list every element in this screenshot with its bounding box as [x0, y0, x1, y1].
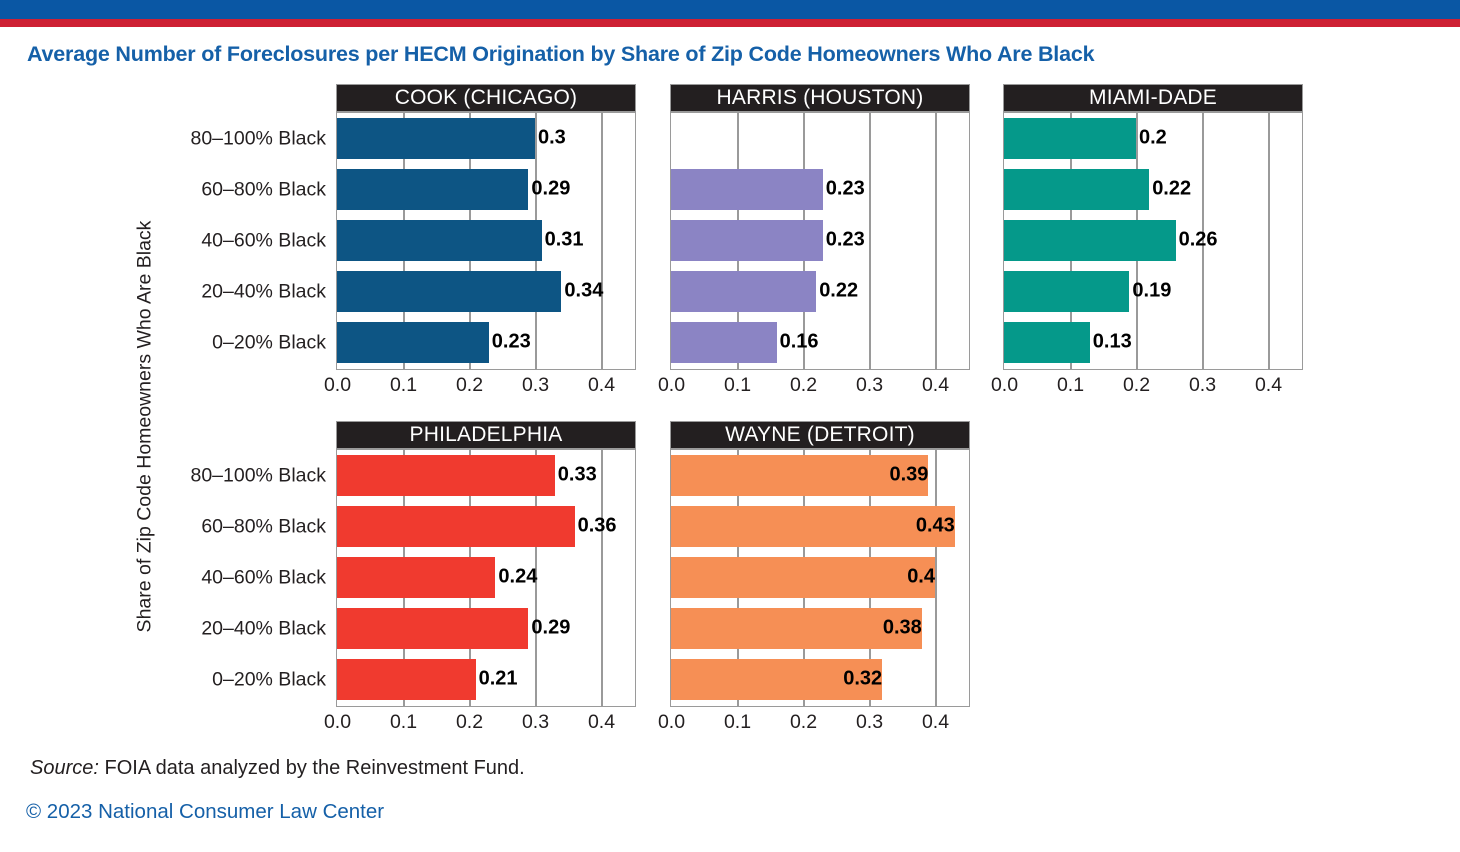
bar-value-label-miami-dade-4: 0.13 [1090, 331, 1132, 354]
bar-row-philadelphia-1: 0.36 [337, 506, 634, 547]
bar-philadelphia-1 [337, 506, 575, 547]
bar-row-harris-3: 0.22 [671, 271, 968, 312]
bar-value-label-cook-4: 0.23 [489, 331, 531, 354]
bar-miami-dade-0 [1004, 118, 1136, 159]
x-tick-miami-dade-0.0: 0.0 [991, 374, 1018, 397]
bar-cook-4 [337, 322, 489, 363]
bar-philadelphia-3 [337, 608, 528, 649]
plot-area-miami-dade: 0.20.220.260.190.13 [1003, 112, 1303, 370]
x-tick-philadelphia-0.2: 0.2 [456, 711, 483, 734]
bar-value-label-wayne-3: 0.38 [671, 617, 928, 640]
bar-cook-2 [337, 220, 542, 261]
panel-title-cook: COOK (CHICAGO) [336, 84, 636, 112]
bar-value-label-wayne-2: 0.4 [671, 566, 941, 589]
bar-harris-1 [671, 169, 823, 210]
copyright-note: © 2023 National Consumer Law Center [26, 800, 384, 824]
source-note: Source: FOIA data analyzed by the Reinve… [30, 757, 525, 780]
bar-value-label-harris-3: 0.22 [816, 280, 858, 303]
x-tick-miami-dade-0.1: 0.1 [1057, 374, 1084, 397]
banner-blue-stripe [0, 0, 1460, 19]
x-tick-wayne-0.3: 0.3 [856, 711, 883, 734]
category-label-philadelphia-4: 0–20% Black [212, 669, 326, 692]
bar-row-miami-dade-2: 0.26 [1004, 220, 1301, 261]
x-tick-harris-0.3: 0.3 [856, 374, 883, 397]
x-tick-harris-0.1: 0.1 [724, 374, 751, 397]
x-tick-philadelphia-0.1: 0.1 [390, 711, 417, 734]
bar-philadelphia-2 [337, 557, 495, 598]
plot-area-wayne: 0.390.430.40.380.32 [670, 449, 970, 707]
bar-value-label-miami-dade-1: 0.22 [1149, 178, 1191, 201]
bar-row-miami-dade-4: 0.13 [1004, 322, 1301, 363]
x-tick-harris-0.4: 0.4 [922, 374, 949, 397]
bar-value-label-cook-1: 0.29 [528, 178, 570, 201]
x-tick-cook-0.0: 0.0 [324, 374, 351, 397]
category-label-philadelphia-0: 80–100% Black [190, 465, 326, 488]
bar-miami-dade-2 [1004, 220, 1176, 261]
bar-philadelphia-0 [337, 455, 555, 496]
bar-row-miami-dade-3: 0.19 [1004, 271, 1301, 312]
bar-miami-dade-1 [1004, 169, 1149, 210]
x-tick-miami-dade-0.2: 0.2 [1123, 374, 1150, 397]
x-tick-miami-dade-0.4: 0.4 [1255, 374, 1282, 397]
bar-value-label-philadelphia-3: 0.29 [528, 617, 570, 640]
bar-value-label-philadelphia-0: 0.33 [555, 464, 597, 487]
category-label-philadelphia-2: 40–60% Black [201, 567, 326, 590]
bar-harris-2 [671, 220, 823, 261]
x-tick-cook-0.3: 0.3 [522, 374, 549, 397]
source-text: FOIA data analyzed by the Reinvestment F… [99, 757, 525, 779]
bar-row-wayne-4: 0.32 [671, 659, 968, 700]
bar-row-cook-0: 0.3 [337, 118, 634, 159]
bar-row-philadelphia-2: 0.24 [337, 557, 634, 598]
bar-row-wayne-1: 0.43 [671, 506, 968, 547]
bar-value-label-philadelphia-4: 0.21 [476, 668, 518, 691]
bar-cook-0 [337, 118, 535, 159]
bar-value-label-miami-dade-3: 0.19 [1129, 280, 1171, 303]
bar-value-label-miami-dade-2: 0.26 [1176, 229, 1218, 252]
category-label-philadelphia-3: 20–40% Black [201, 618, 326, 641]
bar-value-label-wayne-0: 0.39 [671, 464, 934, 487]
bar-value-label-wayne-4: 0.32 [671, 668, 888, 691]
panel-title-harris: HARRIS (HOUSTON) [670, 84, 970, 112]
x-tick-cook-0.4: 0.4 [588, 374, 615, 397]
x-tick-harris-0.2: 0.2 [790, 374, 817, 397]
bar-row-harris-1: 0.23 [671, 169, 968, 210]
bar-harris-3 [671, 271, 816, 312]
bar-row-philadelphia-3: 0.29 [337, 608, 634, 649]
chart-title: Average Number of Foreclosures per HECM … [27, 42, 1094, 67]
bar-value-label-philadelphia-2: 0.24 [495, 566, 537, 589]
top-banner [0, 0, 1460, 27]
x-tick-philadelphia-0.0: 0.0 [324, 711, 351, 734]
bar-value-label-harris-2: 0.23 [823, 229, 865, 252]
bar-philadelphia-4 [337, 659, 476, 700]
category-label-cook-0: 80–100% Black [190, 128, 326, 151]
bar-cook-1 [337, 169, 528, 210]
bar-row-harris-0 [671, 118, 968, 159]
category-axis-philadelphia: 80–100% Black60–80% Black40–60% Black20–… [121, 449, 326, 707]
bar-miami-dade-4 [1004, 322, 1090, 363]
bar-value-label-cook-0: 0.3 [535, 127, 566, 150]
x-tick-harris-0.0: 0.0 [658, 374, 685, 397]
plot-area-harris: 0.230.230.220.16 [670, 112, 970, 370]
category-axis-cook: 80–100% Black60–80% Black40–60% Black20–… [121, 112, 326, 370]
bar-row-miami-dade-1: 0.22 [1004, 169, 1301, 210]
category-label-cook-1: 60–80% Black [201, 179, 326, 202]
bar-row-cook-1: 0.29 [337, 169, 634, 210]
banner-red-stripe [0, 19, 1460, 27]
bar-value-label-harris-1: 0.23 [823, 178, 865, 201]
bar-value-label-cook-2: 0.31 [542, 229, 584, 252]
x-tick-cook-0.2: 0.2 [456, 374, 483, 397]
panel-title-philadelphia: PHILADELPHIA [336, 421, 636, 449]
bar-value-label-harris-4: 0.16 [777, 331, 819, 354]
x-tick-philadelphia-0.4: 0.4 [588, 711, 615, 734]
panel-title-miami-dade: MIAMI-DADE [1003, 84, 1303, 112]
bar-row-harris-4: 0.16 [671, 322, 968, 363]
category-label-cook-4: 0–20% Black [212, 332, 326, 355]
bar-row-cook-4: 0.23 [337, 322, 634, 363]
x-tick-wayne-0.1: 0.1 [724, 711, 751, 734]
x-tick-philadelphia-0.3: 0.3 [522, 711, 549, 734]
bar-row-philadelphia-4: 0.21 [337, 659, 634, 700]
bar-cook-3 [337, 271, 561, 312]
bar-row-cook-3: 0.34 [337, 271, 634, 312]
plot-area-cook: 0.30.290.310.340.23 [336, 112, 636, 370]
x-tick-wayne-0.4: 0.4 [922, 711, 949, 734]
x-tick-miami-dade-0.3: 0.3 [1189, 374, 1216, 397]
x-tick-wayne-0.0: 0.0 [658, 711, 685, 734]
bar-value-label-cook-3: 0.34 [561, 280, 603, 303]
x-tick-cook-0.1: 0.1 [390, 374, 417, 397]
plot-area-philadelphia: 0.330.360.240.290.21 [336, 449, 636, 707]
bar-row-miami-dade-0: 0.2 [1004, 118, 1301, 159]
bar-miami-dade-3 [1004, 271, 1129, 312]
bar-row-philadelphia-0: 0.33 [337, 455, 634, 496]
bar-row-wayne-0: 0.39 [671, 455, 968, 496]
source-label: Source: [30, 757, 99, 779]
bar-value-label-philadelphia-1: 0.36 [575, 515, 617, 538]
panel-title-wayne: WAYNE (DETROIT) [670, 421, 970, 449]
bar-value-label-wayne-1: 0.43 [671, 515, 961, 538]
bar-row-wayne-3: 0.38 [671, 608, 968, 649]
bar-row-cook-2: 0.31 [337, 220, 634, 261]
bar-row-harris-2: 0.23 [671, 220, 968, 261]
category-label-cook-3: 20–40% Black [201, 281, 326, 304]
x-tick-wayne-0.2: 0.2 [790, 711, 817, 734]
bar-value-label-miami-dade-0: 0.2 [1136, 127, 1167, 150]
bar-row-wayne-2: 0.4 [671, 557, 968, 598]
bar-harris-4 [671, 322, 777, 363]
category-label-philadelphia-1: 60–80% Black [201, 516, 326, 539]
category-label-cook-2: 40–60% Black [201, 230, 326, 253]
